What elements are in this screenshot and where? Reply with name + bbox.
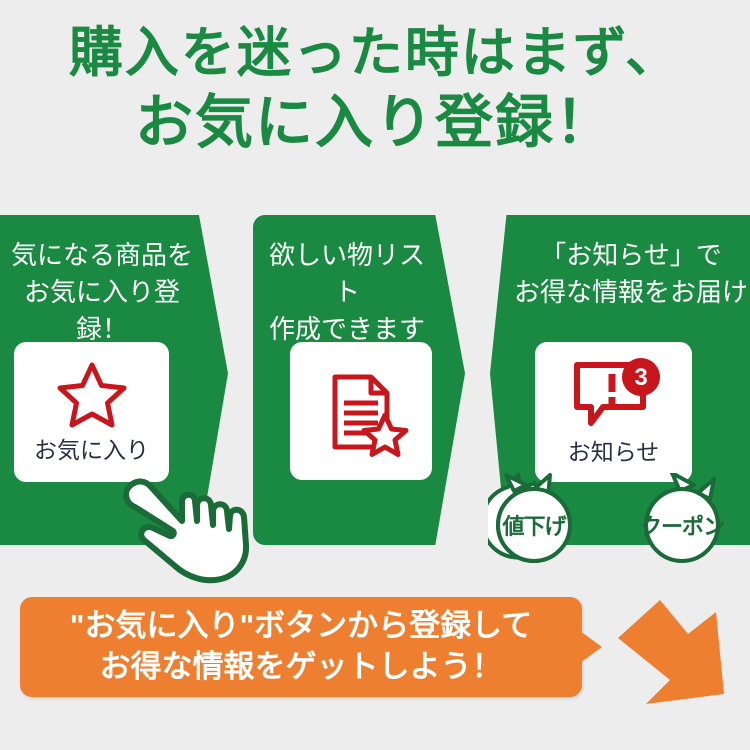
feature-panel-wishlist: 欲しい物リスト 作成できます <box>253 215 465 545</box>
panel-3-title-line-1: 「お知らせ」で <box>540 240 721 270</box>
feature-panel-favorites: 気になる商品を お気に入り登録！ お気に入り <box>0 215 228 545</box>
panel-2-title: 欲しい物リスト 作成できます <box>257 237 437 348</box>
favorites-card-label: お気に入り <box>34 431 149 465</box>
callout-line-2: お得な情報をゲットしよう！ <box>100 647 503 688</box>
notification-badge-count: 3 <box>634 364 647 391</box>
favorites-button-card[interactable]: お気に入り <box>14 342 169 482</box>
wishlist-card[interactable] <box>290 342 432 480</box>
notification-alert-icon: 3 <box>567 357 661 431</box>
bottom-callout: "お気に入り"ボタンから登録して お得な情報をゲットしよう！ <box>20 597 595 697</box>
mini-bubble-coupon-label: クーポン <box>636 473 728 565</box>
panel-1-title-line-1: 気になる商品を <box>11 240 193 270</box>
notifications-card-label: お知らせ <box>568 433 660 467</box>
mini-bubble-price-drop-label: 値下げ <box>488 473 580 565</box>
panel-3-title: 「お知らせ」で お得な情報をお届け <box>506 237 750 311</box>
panel-2-title-line-1: 欲しい物リスト <box>269 240 425 307</box>
star-outline-icon <box>55 359 129 429</box>
panel-3-title-line-2: お得な情報をお届け <box>514 277 748 307</box>
headline-line-2: お気に入り登録！ <box>0 92 750 155</box>
mini-bubble-coupon: クーポン <box>636 473 728 565</box>
panel-1-title-line-2: お気に入り登録！ <box>24 277 180 344</box>
mini-bubble-price-drop: 値下げ <box>488 473 580 565</box>
down-right-arrow-icon <box>598 586 748 721</box>
panel-1-title: 気になる商品を お気に入り登録！ <box>2 237 202 348</box>
notifications-button-card[interactable]: 3 お知らせ <box>535 342 692 482</box>
wishlist-document-star-icon <box>311 361 411 461</box>
panel-2-title-line-2: 作成できます <box>269 314 425 344</box>
page-title: 購入を迷った時はまず、 お気に入り登録！ <box>0 24 750 155</box>
headline-line-1: 購入を迷った時はまず、 <box>0 24 750 82</box>
callout-bubble: "お気に入り"ボタンから登録して お得な情報をゲットしよう！ <box>20 597 582 697</box>
callout-line-1: "お気に入り"ボタンから登録して <box>70 606 532 647</box>
promo-banner: 購入を迷った時はまず、 お気に入り登録！ 気になる商品を お気に入り登録！ お気… <box>0 0 750 750</box>
